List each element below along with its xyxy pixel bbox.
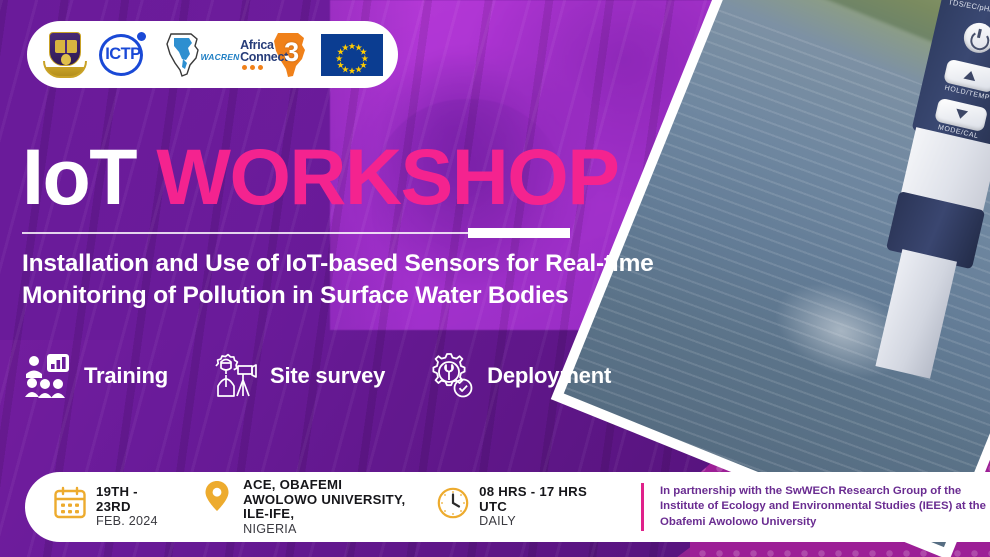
sponsor-logo-bar: ICTP WACREN Africa Connect 3 xyxy=(27,21,398,88)
event-details-bar: 19TH - 23RD FEB. 2024 ACE, OBAFEMI AWOLO… xyxy=(25,472,990,542)
event-time: 08 HRS - 17 HRS UTC DAILY xyxy=(436,485,615,529)
feature-site-survey: Site survey xyxy=(210,352,385,400)
ictp-dot-icon xyxy=(137,32,146,41)
feature-list: Training Site surve xyxy=(24,352,611,400)
footer-divider xyxy=(641,483,644,531)
location-pin-icon xyxy=(200,479,234,513)
oau-crest-logo xyxy=(42,30,88,80)
feature-site-survey-label: Site survey xyxy=(270,363,385,389)
page-subtitle: Installation and Use of IoT-based Sensor… xyxy=(22,248,654,312)
eu-stars-icon xyxy=(322,35,382,75)
wacren-logo: WACREN xyxy=(159,30,237,80)
event-venue-secondary: NIGERIA xyxy=(243,522,406,537)
africaconnect-dots-icon xyxy=(242,65,263,70)
clock-icon xyxy=(436,486,470,520)
event-time-secondary: DAILY xyxy=(479,514,615,529)
deployment-icon xyxy=(427,352,475,400)
meter-probe xyxy=(876,249,958,379)
crest-ribbon-icon xyxy=(43,61,87,78)
feature-deployment: Deployment xyxy=(427,352,611,400)
feature-training-label: Training xyxy=(84,363,168,389)
event-time-text: 08 HRS - 17 HRS UTC DAILY xyxy=(479,485,615,529)
wacren-wordmark: WACREN xyxy=(201,52,240,62)
workshop-banner: 30.3 TDS/EC/pH/SALINITY HOLD/TEMP MODE/C… xyxy=(0,0,990,557)
crest-book-icon xyxy=(55,40,77,53)
event-venue-primary: ACE, OBAFEMI AWOLOWO UNIVERSITY, ILE-IFE… xyxy=(243,478,406,522)
title-divider xyxy=(22,228,570,238)
calendar-icon xyxy=(53,486,87,520)
event-venue: ACE, OBAFEMI AWOLOWO UNIVERSITY, ILE-IFE… xyxy=(200,478,406,536)
feature-training: Training xyxy=(24,352,168,400)
event-date-secondary: FEB. 2024 xyxy=(96,514,174,529)
subtitle-line-2: Monitoring of Pollution in Surface Water… xyxy=(22,280,654,312)
title-workshop: WORKSHOP xyxy=(156,132,618,221)
africa-outline-icon xyxy=(161,32,205,78)
event-venue-text: ACE, OBAFEMI AWOLOWO UNIVERSITY, ILE-IFE… xyxy=(243,478,406,536)
title-divider-thin xyxy=(22,232,470,234)
page-title: IoT WORKSHOP xyxy=(22,137,618,217)
africaconnect-numeral: 3 xyxy=(284,37,299,68)
event-time-primary: 08 HRS - 17 HRS UTC xyxy=(479,485,615,514)
eu-flag-logo xyxy=(321,34,383,76)
site-survey-icon xyxy=(210,352,258,400)
africaconnect3-logo: Africa Connect 3 xyxy=(240,31,318,79)
africaconnect-line2: Connect xyxy=(240,50,288,64)
feature-deployment-label: Deployment xyxy=(487,363,611,389)
title-iot: IoT xyxy=(22,132,136,221)
event-date-primary: 19TH - 23RD xyxy=(96,485,174,514)
training-icon xyxy=(24,352,72,400)
event-date: 19TH - 23RD FEB. 2024 xyxy=(53,485,174,529)
subtitle-line-1: Installation and Use of IoT-based Sensor… xyxy=(22,248,654,280)
event-date-text: 19TH - 23RD FEB. 2024 xyxy=(96,485,174,529)
title-divider-thick xyxy=(468,228,570,238)
partnership-note: In partnership with the SwWECh Research … xyxy=(660,484,990,531)
ictp-logo: ICTP xyxy=(91,31,157,79)
ictp-wordmark: ICTP xyxy=(95,45,151,64)
eu-flag-icon xyxy=(321,34,383,76)
africaconnect-wordmark: Africa Connect xyxy=(240,39,288,64)
